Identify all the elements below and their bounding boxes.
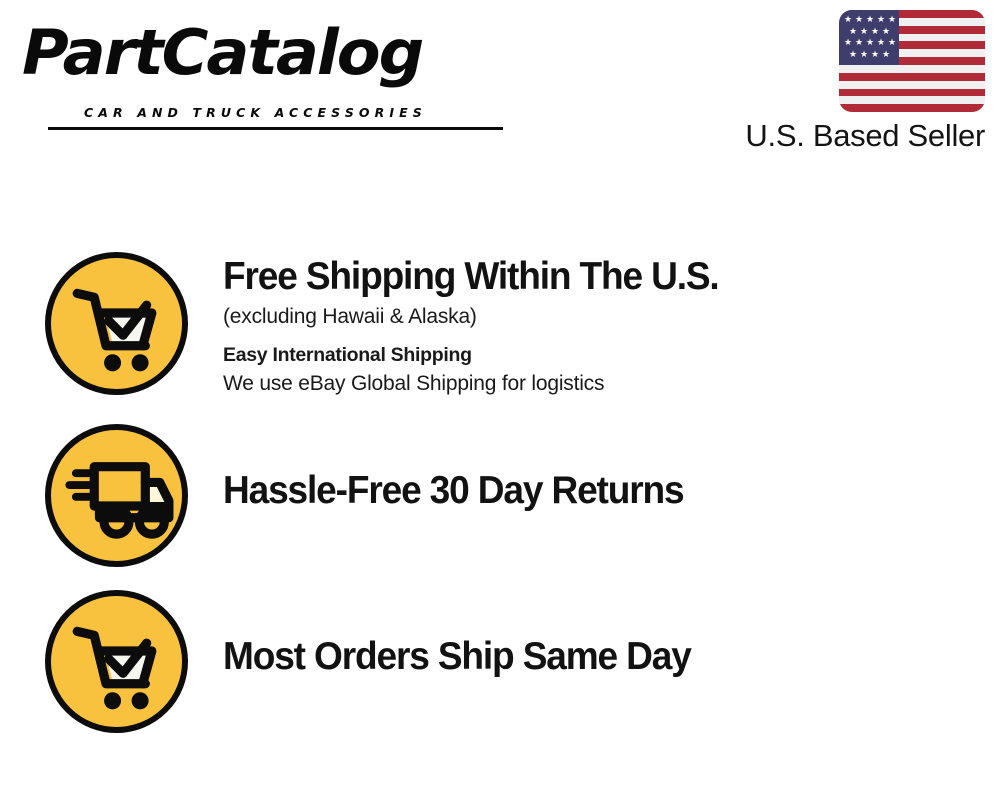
feature-heading: Hassle-Free 30 Day Returns	[223, 468, 945, 514]
flag-star: ★	[855, 16, 863, 25]
flag-star: ★	[855, 39, 863, 48]
flag-star: ★	[860, 51, 868, 60]
feature-sub-strong: Easy International Shipping	[223, 341, 983, 369]
flag-stripe	[839, 73, 985, 81]
flag-star: ★	[871, 51, 879, 60]
flag-stripe	[839, 89, 985, 97]
shopping-cart-check-icon	[45, 252, 188, 395]
feature-heading: Free Shipping Within The U.S.	[223, 254, 945, 300]
feature-text-block: Free Shipping Within The U.S. (excluding…	[223, 254, 983, 398]
delivery-truck-icon	[45, 424, 188, 567]
brand-tagline: CAR AND TRUCK ACCESSORIES	[84, 105, 427, 120]
seller-caption: U.S. Based Seller	[600, 119, 985, 153]
feature-row: Free Shipping Within The U.S. (excluding…	[0, 252, 1000, 402]
us-flag-icon: ★ ★ ★ ★ ★ ★ ★ ★ ★ ★ ★ ★ ★ ★ ★ ★ ★ ★	[839, 10, 985, 112]
flag-star: ★	[844, 16, 852, 25]
flag-star: ★	[849, 28, 857, 37]
flag-star: ★	[866, 16, 874, 25]
flag-star: ★	[866, 39, 874, 48]
brand-logo[interactable]: PartCatalog CAR AND TRUCK ACCESSORIES	[22, 20, 492, 115]
feature-text-block: Hassle-Free 30 Day Returns	[223, 468, 983, 514]
flag-stripe	[839, 81, 985, 89]
flag-stripe	[839, 96, 985, 104]
flag-star: ★	[877, 16, 885, 25]
feature-row: Hassle-Free 30 Day Returns	[0, 424, 1000, 574]
flag-stripe	[839, 104, 985, 112]
logo-underline-rule	[48, 127, 503, 130]
flag-star: ★	[844, 39, 852, 48]
flag-star: ★	[877, 39, 885, 48]
feature-sub-detail: We use eBay Global Shipping for logistic…	[223, 369, 983, 398]
feature-text-block: Most Orders Ship Same Day	[223, 634, 983, 680]
brand-wordmark: PartCatalog	[22, 20, 506, 86]
flag-star: ★	[882, 51, 890, 60]
flag-star: ★	[888, 16, 896, 25]
page-header: PartCatalog CAR AND TRUCK ACCESSORIES ★ …	[0, 0, 1000, 175]
flag-star: ★	[882, 28, 890, 37]
flag-star: ★	[871, 28, 879, 37]
flag-canton: ★ ★ ★ ★ ★ ★ ★ ★ ★ ★ ★ ★ ★ ★ ★ ★ ★ ★	[839, 10, 899, 65]
feature-row: Most Orders Ship Same Day	[0, 590, 1000, 740]
flag-star: ★	[849, 51, 857, 60]
flag-stripe	[839, 65, 985, 73]
feature-heading: Most Orders Ship Same Day	[223, 634, 945, 680]
feature-sub-note: (excluding Hawaii & Alaska)	[223, 302, 983, 331]
shopping-cart-check-icon	[45, 590, 188, 733]
flag-star: ★	[888, 39, 896, 48]
flag-star: ★	[860, 28, 868, 37]
